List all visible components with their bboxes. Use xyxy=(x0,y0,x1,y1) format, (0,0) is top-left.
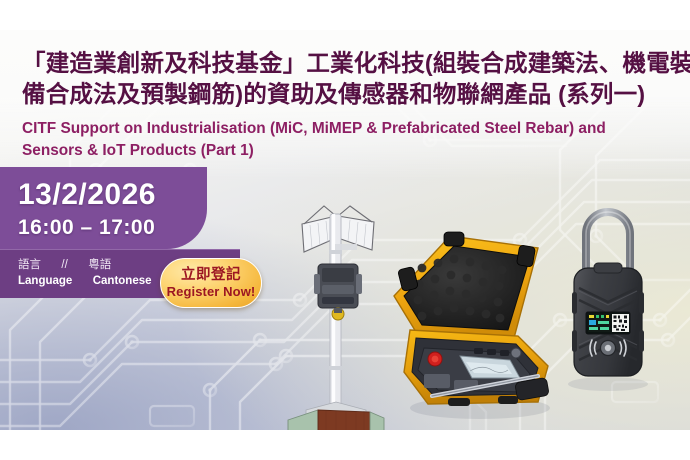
register-label-english: Register Now! xyxy=(167,284,256,299)
product-mobile-survey-mast xyxy=(278,198,396,430)
event-date: 13/2/2026 xyxy=(18,177,193,213)
event-time: 16:00 – 17:00 xyxy=(18,214,193,241)
language-value-zh: 粵語 xyxy=(88,259,111,271)
title-english-line1: CITF Support on Industrialisation (MiC, … xyxy=(22,118,642,140)
register-label-chinese: 立即登記 xyxy=(181,267,241,284)
title-chinese-line2: 備合成法及預製鋼筋)的資助及傳感器和物聯網產品 (系列一) xyxy=(22,79,682,110)
register-now-button[interactable]: 立即登記 Register Now! xyxy=(160,258,262,308)
language-label-zh: 語言 xyxy=(18,259,41,271)
title-chinese-line1: 「建造業創新及科技基金」工業化科技(組裝合成建築法、機電裝 xyxy=(22,48,682,79)
language-value-en: Cantonese xyxy=(93,275,152,287)
language-label-en: Language xyxy=(18,275,72,287)
banner-titles: 「建造業創新及科技基金」工業化科技(組裝合成建築法、機電裝 備合成法及預製鋼筋)… xyxy=(22,48,682,162)
title-english-line2: Sensors & IoT Products (Part 1) xyxy=(22,140,642,162)
product-smart-cable-lock xyxy=(548,188,668,394)
event-banner: 「建造業創新及科技基金」工業化科技(組裝合成建築法、機電裝 備合成法及預製鋼筋)… xyxy=(0,30,690,430)
event-datetime-block: 13/2/2026 16:00 – 17:00 xyxy=(0,167,207,249)
language-separator: // xyxy=(61,259,67,271)
product-yellow-equipment-case xyxy=(388,226,568,422)
banner-canvas: 「建造業創新及科技基金」工業化科技(組裝合成建築法、機電裝 備合成法及預製鋼筋)… xyxy=(0,0,690,460)
